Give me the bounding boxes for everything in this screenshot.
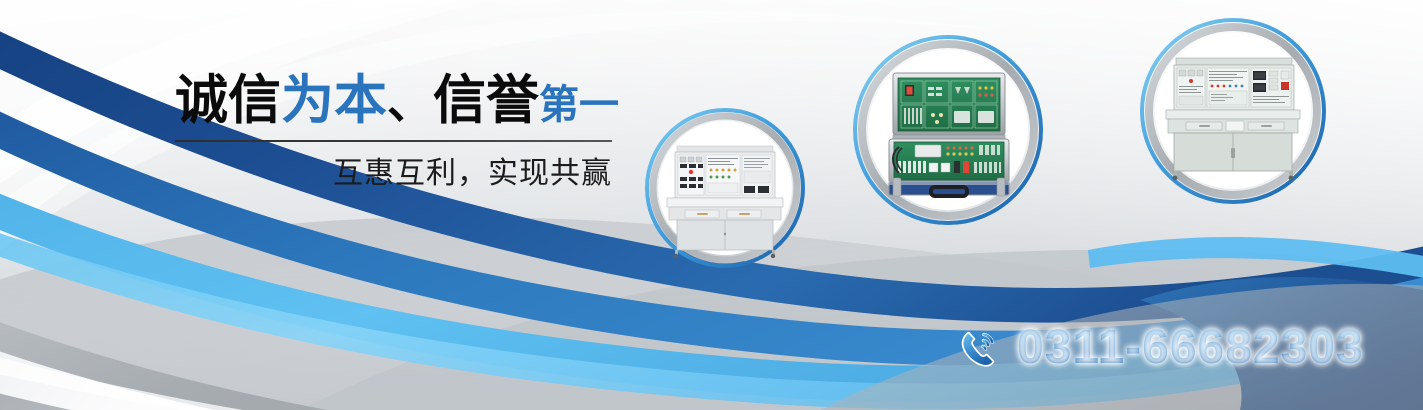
product-circle-test-bench[interactable] [1140,18,1326,204]
phone-number[interactable]: 0311-66682303 [1017,322,1364,374]
headline-divider [175,140,612,142]
product-circle-workbench[interactable] [645,108,805,268]
contact-phone-block[interactable]: 0311-66682303 [955,322,1364,374]
product-circle-training-case[interactable] [853,35,1043,225]
headline-part-5: 第一 [539,83,619,127]
headline-part-2: 为本 [281,71,387,130]
headline-part-1: 诚信 [175,71,281,130]
headline-part-4: 信誉 [433,71,539,130]
headline-separator: 、 [387,76,433,128]
subline: 互惠互利，实现共赢 [175,156,612,192]
headline: 诚信为本、信誉第一 [175,72,615,134]
promotional-banner: 诚信为本、信誉第一 互惠互利，实现共赢 [0,0,1423,410]
workbench-illustration [667,146,783,258]
phone-call-icon [955,324,1003,372]
test-bench-illustration [1166,58,1300,180]
training-case-illustration [889,73,1009,196]
slogan-block: 诚信为本、信誉第一 互惠互利，实现共赢 [175,72,615,192]
